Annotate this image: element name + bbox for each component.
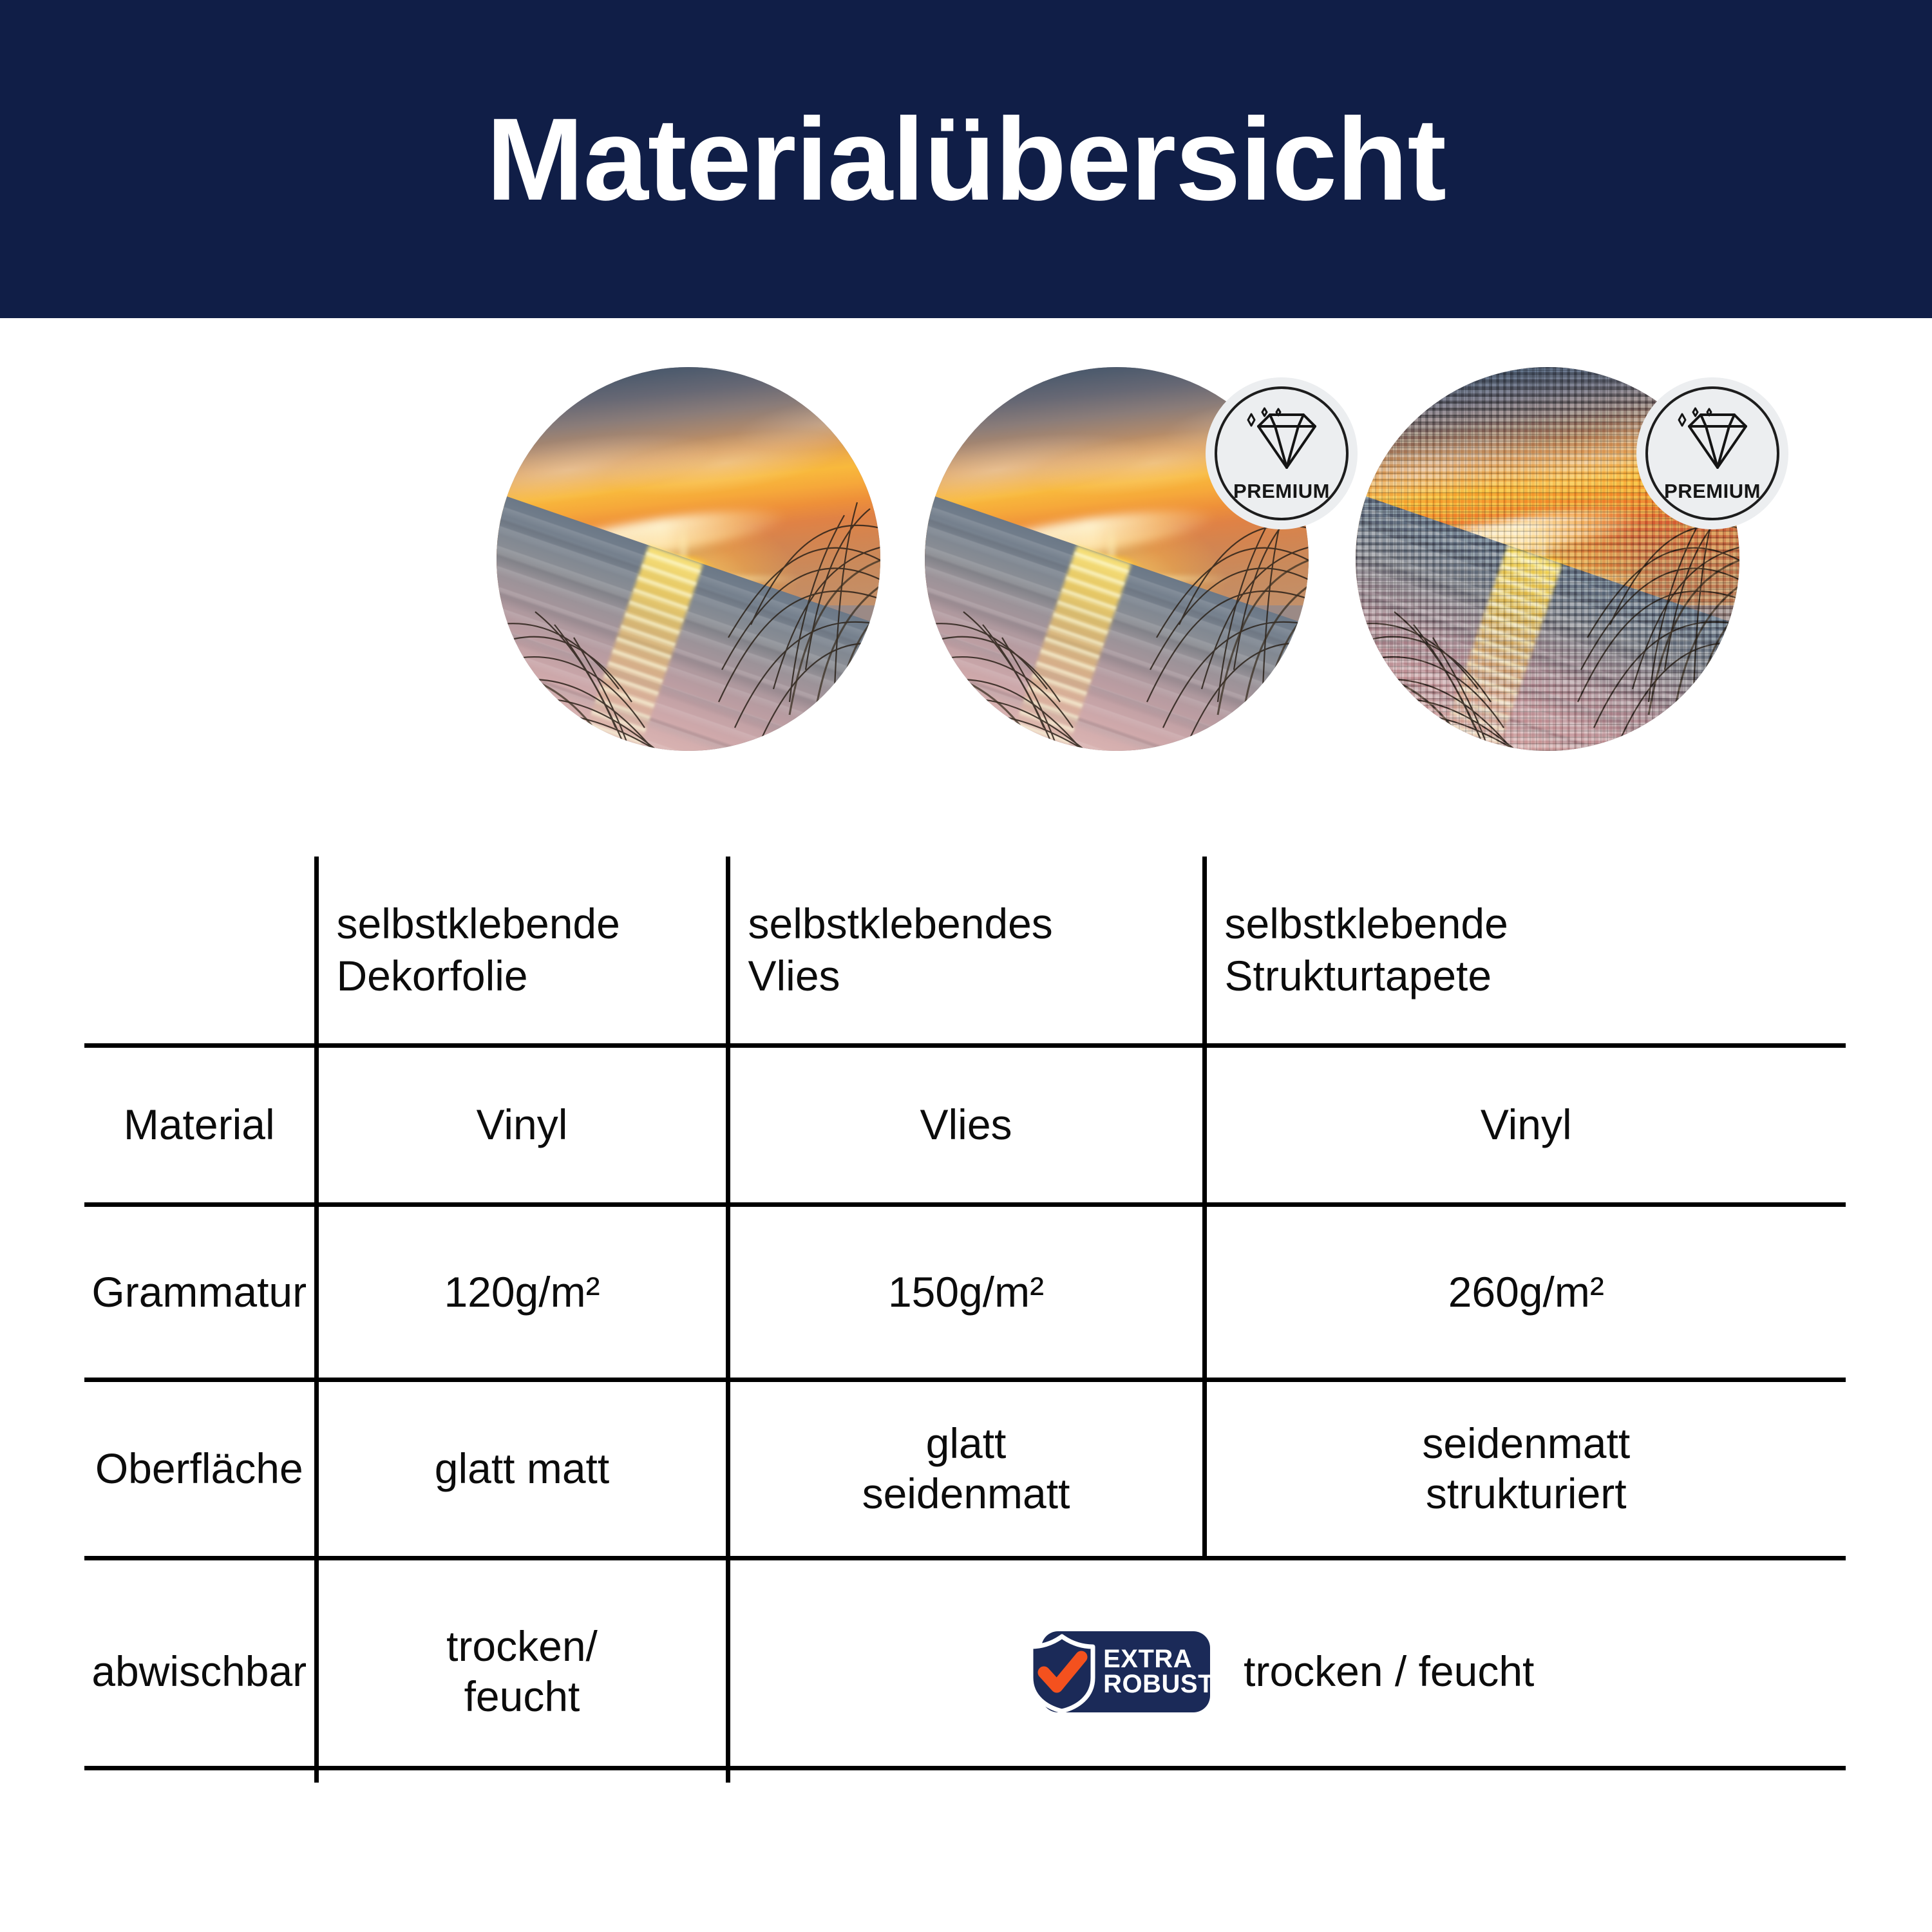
row-label-oberflaeche: Oberfläche [84, 1380, 316, 1558]
cell-abwischbar-dekorfolie: trocken/ feucht [316, 1558, 728, 1783]
cell-abwischbar-merged: EXTRA ROBUST trocken / feucht [728, 1558, 1846, 1783]
material-comparison-table: selbstklebende Dekorfolie selbstklebende… [84, 857, 1846, 1783]
robust-line-1: EXTRA [1103, 1646, 1214, 1671]
row-label-abwischbar: abwischbar [84, 1558, 316, 1783]
header-line-2: Dekorfolie [337, 950, 726, 1002]
header-cell-dekorfolie: selbstklebende Dekorfolie [316, 857, 728, 1046]
cell-abwischbar-value: trocken / feucht [1244, 1647, 1534, 1697]
premium-badge-label: PREMIUM [1233, 481, 1330, 501]
header-line-1: selbstklebende [337, 898, 726, 950]
header-line-2: Vlies [748, 950, 1202, 1002]
table-row-grammatur: Grammatur 120g/m² 150g/m² 260g/m² [84, 1205, 1846, 1380]
diamond-icon [1239, 406, 1324, 478]
value-line-1: glatt [730, 1419, 1202, 1469]
premium-badge-label: PREMIUM [1664, 481, 1761, 501]
cell-grammatur-dekorfolie: 120g/m² [316, 1205, 728, 1380]
cell-grammatur-vlies: 150g/m² [728, 1205, 1204, 1380]
shield-check-icon [1025, 1633, 1099, 1714]
header-cell-strukturtapete: selbstklebende Strukturtapete [1204, 857, 1846, 1046]
extra-robust-badge: EXTRA ROBUST [1041, 1631, 1210, 1712]
cell-oberflaeche-strukturtapete: seidenmatt strukturiert [1204, 1380, 1846, 1558]
cell-grammatur-strukturtapete: 260g/m² [1204, 1205, 1846, 1380]
value-line-2: feucht [319, 1672, 726, 1722]
row-label-grammatur: Grammatur [84, 1205, 316, 1380]
material-overview-page: Materialübersicht [0, 0, 1932, 1932]
cell-material-vlies: Vlies [728, 1046, 1204, 1205]
premium-badge-vlies: PREMIUM [1206, 377, 1358, 529]
row-label-material: Material [84, 1046, 316, 1205]
header-line-2: Strukturtapete [1225, 950, 1846, 1002]
cell-oberflaeche-vlies: glatt seidenmatt [728, 1380, 1204, 1558]
value-line-1: trocken/ [319, 1622, 726, 1672]
header-line-1: selbstklebende [1225, 898, 1846, 950]
table-header-row: selbstklebende Dekorfolie selbstklebende… [84, 857, 1846, 1046]
cell-material-dekorfolie: Vinyl [316, 1046, 728, 1205]
table-row-abwischbar: abwischbar trocken/ feucht [84, 1558, 1846, 1783]
table-row-material: Material Vinyl Vlies Vinyl [84, 1046, 1846, 1205]
value-line-2: seidenmatt [730, 1469, 1202, 1519]
robust-line-2: ROBUST [1103, 1672, 1214, 1697]
premium-badge-strukturtapete: PREMIUM [1636, 377, 1788, 529]
table-row-oberflaeche: Oberfläche glatt matt glatt seidenmatt s… [84, 1380, 1846, 1558]
value-line-2: strukturiert [1207, 1469, 1846, 1519]
cell-oberflaeche-dekorfolie: glatt matt [316, 1380, 728, 1558]
extra-robust-text: EXTRA ROBUST [1103, 1646, 1214, 1696]
header-cell-vlies: selbstklebendes Vlies [728, 857, 1204, 1046]
value-line-1: seidenmatt [1207, 1419, 1846, 1469]
header-line-1: selbstklebendes [748, 898, 1202, 950]
header-cell-empty [84, 857, 316, 1046]
material-table-wrap: selbstklebende Dekorfolie selbstklebende… [0, 0, 1932, 1932]
cell-material-strukturtapete: Vinyl [1204, 1046, 1846, 1205]
diamond-icon [1670, 406, 1755, 478]
